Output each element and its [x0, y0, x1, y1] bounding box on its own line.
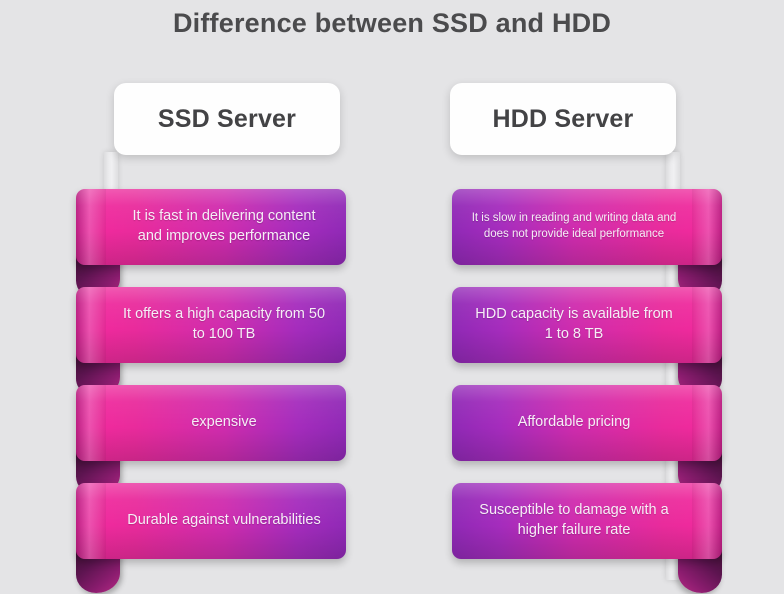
ribbon-label: Durable against vulnerabilities — [109, 511, 338, 531]
ribbon-label: HDD capacity is available from 1 to 8 TB — [452, 305, 696, 344]
column-header-label-ssd: SSD Server — [158, 105, 296, 134]
ribbon-hdd-1: It is slow in reading and writing data a… — [452, 189, 722, 275]
ribbon-label: expensive — [173, 413, 274, 433]
ribbon-ssd-1: It is fast in delivering content and imp… — [76, 189, 346, 275]
ribbon-ssd-4: Durable against vulnerabilities — [76, 483, 346, 569]
ribbon-ssd-3: expensive — [76, 385, 346, 471]
ribbon-label: It offers a high capacity from 50 to 100… — [102, 305, 346, 344]
ribbon-hdd-2: HDD capacity is available from 1 to 8 TB — [452, 287, 722, 373]
ribbon-ssd-2: It offers a high capacity from 50 to 100… — [76, 287, 346, 373]
ribbon-label: Susceptible to damage with a higher fail… — [452, 501, 696, 540]
ribbon-band: It is fast in delivering content and imp… — [76, 189, 346, 265]
ribbon-band: Affordable pricing — [452, 385, 722, 461]
ribbon-label: It is fast in delivering content and imp… — [102, 207, 346, 246]
infographic-canvas: Difference between SSD and HDD SSD Serve… — [0, 0, 784, 594]
ribbon-hdd-3: Affordable pricing — [452, 385, 722, 471]
column-header-card-hdd: HDD Server — [450, 83, 676, 155]
ribbon-hdd-4: Susceptible to damage with a higher fail… — [452, 483, 722, 569]
ribbon-band: Susceptible to damage with a higher fail… — [452, 483, 722, 559]
ribbon-label: It is slow in reading and writing data a… — [452, 211, 696, 242]
page-title: Difference between SSD and HDD — [0, 8, 784, 39]
ribbon-band: It offers a high capacity from 50 to 100… — [76, 287, 346, 363]
column-header-card-ssd: SSD Server — [114, 83, 340, 155]
ribbon-band: Durable against vulnerabilities — [76, 483, 346, 559]
ribbon-band: expensive — [76, 385, 346, 461]
ribbon-band: HDD capacity is available from 1 to 8 TB — [452, 287, 722, 363]
ribbon-label: Affordable pricing — [500, 413, 649, 433]
column-header-label-hdd: HDD Server — [493, 105, 634, 134]
ribbon-band: It is slow in reading and writing data a… — [452, 189, 722, 265]
